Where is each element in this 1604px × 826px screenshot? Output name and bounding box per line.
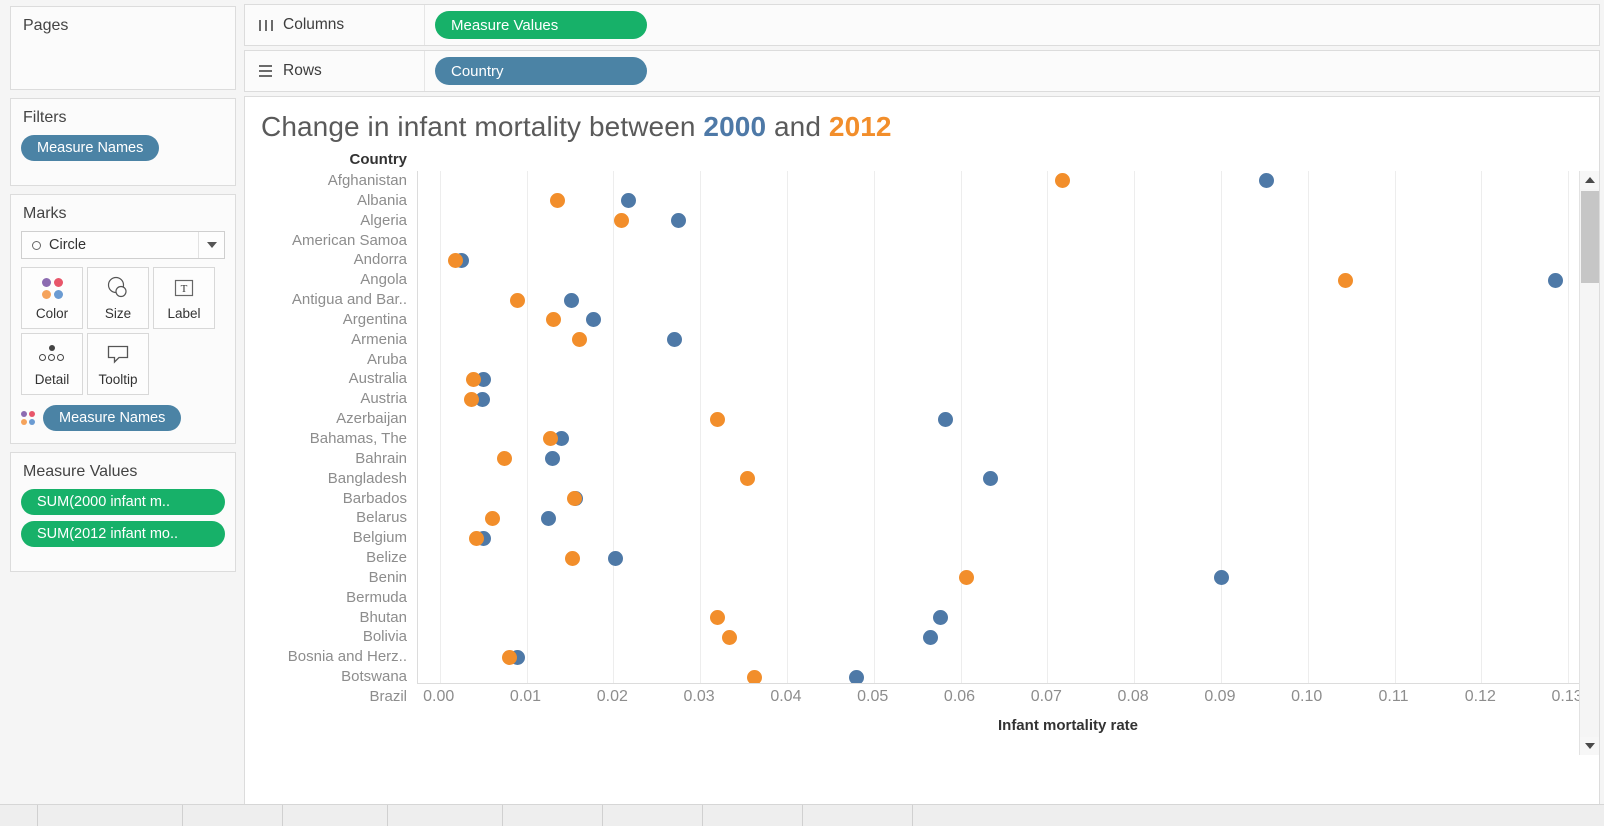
row-label[interactable]: Antigua and Bar.. xyxy=(245,290,417,310)
scroll-up-arrow-icon[interactable] xyxy=(1580,171,1600,189)
marks-color-button[interactable]: Color xyxy=(21,267,83,329)
title-year-2000: 2000 xyxy=(703,111,766,142)
filters-card[interactable]: Filters Measure Names xyxy=(10,98,236,186)
color-dots-icon xyxy=(42,275,63,301)
detail-dots-icon xyxy=(38,341,66,367)
columns-shelf-label: Columns xyxy=(283,16,344,34)
scatter-mark[interactable] xyxy=(502,650,517,665)
scatter-mark[interactable] xyxy=(933,610,948,625)
scatter-mark[interactable] xyxy=(1214,570,1229,585)
row-label[interactable]: Algeria xyxy=(245,211,417,231)
scatter-mark[interactable] xyxy=(710,610,725,625)
row-label[interactable]: Bahrain xyxy=(245,449,417,469)
scatter-mark[interactable] xyxy=(849,670,864,684)
measure-values-card-title: Measure Values xyxy=(23,463,225,481)
filter-pill-measure-names[interactable]: Measure Names xyxy=(21,135,159,161)
scatter-mark[interactable] xyxy=(545,451,560,466)
marks-tooltip-button[interactable]: Tooltip xyxy=(87,333,149,395)
tooltip-bubble-icon xyxy=(107,341,129,367)
scatter-mark[interactable] xyxy=(671,213,686,228)
scatter-mark[interactable] xyxy=(541,511,556,526)
gridline xyxy=(440,171,441,683)
size-icon xyxy=(105,275,131,301)
marks-button-row-2: Detail Tooltip xyxy=(21,333,225,395)
scatter-mark[interactable] xyxy=(938,412,953,427)
marks-detail-label: Detail xyxy=(35,372,70,387)
scatter-mark[interactable] xyxy=(448,253,463,268)
scatter-mark[interactable] xyxy=(546,312,561,327)
scatter-mark[interactable] xyxy=(608,551,623,566)
mark-type-value: Circle xyxy=(49,237,86,253)
worksheet-panel: Columns Measure Values Rows Country Chan… xyxy=(244,0,1604,826)
row-label[interactable]: Bermuda xyxy=(245,588,417,608)
gridline xyxy=(700,171,701,683)
rows-icon xyxy=(259,65,273,77)
marks-pill-measure-names[interactable]: Measure Names xyxy=(43,405,181,431)
tableau-worksheet: Pages Filters Measure Names Marks Circle xyxy=(0,0,1604,826)
row-label[interactable]: Austria xyxy=(245,389,417,409)
row-label[interactable]: Belize xyxy=(245,548,417,568)
row-header-title: Country xyxy=(245,149,417,171)
row-label[interactable]: American Samoa xyxy=(245,231,417,251)
x-tick-label: 0.07 xyxy=(1031,688,1062,706)
scatter-mark[interactable] xyxy=(710,412,725,427)
bottom-status-strip xyxy=(0,804,1604,826)
row-label[interactable]: Angola xyxy=(245,270,417,290)
chevron-down-icon[interactable] xyxy=(198,232,224,258)
x-tick-label: 0.03 xyxy=(684,688,715,706)
rows-shelf[interactable]: Rows Country xyxy=(244,50,1600,92)
rows-shelf-label: Rows xyxy=(283,62,322,80)
columns-icon xyxy=(259,19,273,31)
marks-encoding-row: Measure Names xyxy=(21,405,225,431)
scatter-pane[interactable] xyxy=(417,171,1600,684)
row-label[interactable]: Azerbaijan xyxy=(245,409,417,429)
x-tick-label: 0.12 xyxy=(1465,688,1496,706)
scatter-mark[interactable] xyxy=(1548,273,1563,288)
scatter-mark[interactable] xyxy=(567,491,582,506)
vertical-scrollbar-thumb[interactable] xyxy=(1581,191,1599,283)
measure-values-card: Measure Values SUM(2000 infant m.. SUM(2… xyxy=(10,452,236,572)
title-middle: and xyxy=(766,111,829,142)
pages-card[interactable]: Pages xyxy=(10,6,236,90)
marks-label-button[interactable]: T Label xyxy=(153,267,215,329)
row-label[interactable]: Bosnia and Herz.. xyxy=(245,647,417,667)
row-header-column: Country AfghanistanAlbaniaAlgeriaAmerica… xyxy=(245,149,417,707)
gridline xyxy=(613,171,614,683)
gridline xyxy=(527,171,528,683)
row-label[interactable]: Argentina xyxy=(245,310,417,330)
filters-card-title: Filters xyxy=(23,109,225,127)
row-label[interactable]: Bolivia xyxy=(245,627,417,647)
row-label[interactable]: Belgium xyxy=(245,528,417,548)
gridline xyxy=(787,171,788,683)
columns-pill-measure-values[interactable]: Measure Values xyxy=(435,11,647,39)
gridline xyxy=(1481,171,1482,683)
color-dots-icon xyxy=(21,411,35,425)
row-label[interactable]: Brazil xyxy=(245,687,417,707)
gridline xyxy=(1134,171,1135,683)
scatter-mark[interactable] xyxy=(983,471,998,486)
scatter-mark[interactable] xyxy=(614,213,629,228)
left-shelf-panel: Pages Filters Measure Names Marks Circle xyxy=(0,0,244,826)
page-title: Change in infant mortality between 2000 … xyxy=(245,97,1599,143)
x-tick-label: 0.05 xyxy=(857,688,888,706)
scatter-mark[interactable] xyxy=(586,312,601,327)
plot-area: Country AfghanistanAlbaniaAlgeriaAmerica… xyxy=(245,149,1599,825)
scatter-mark[interactable] xyxy=(510,293,525,308)
row-label[interactable]: Afghanistan xyxy=(245,171,417,191)
marks-size-button[interactable]: Size xyxy=(87,267,149,329)
scatter-mark[interactable] xyxy=(466,372,481,387)
scatter-mark[interactable] xyxy=(740,471,755,486)
marks-color-label: Color xyxy=(36,306,68,321)
gridline xyxy=(1047,171,1048,683)
mark-type-dropdown[interactable]: Circle xyxy=(21,231,225,259)
marks-label-label: Label xyxy=(167,306,200,321)
gridline xyxy=(874,171,875,683)
scatter-mark[interactable] xyxy=(1338,273,1353,288)
row-label[interactable]: Bahamas, The xyxy=(245,429,417,449)
marks-button-row-1: Color Size T Label xyxy=(21,267,225,329)
scatter-mark[interactable] xyxy=(923,630,938,645)
row-label[interactable]: Benin xyxy=(245,568,417,588)
pages-card-title: Pages xyxy=(23,17,225,35)
circle-icon xyxy=(32,241,41,250)
marks-card: Marks Circle Color xyxy=(10,194,236,444)
marks-tooltip-label: Tooltip xyxy=(98,372,137,387)
x-axis-title: Infant mortality rate xyxy=(417,717,1600,734)
columns-shelf[interactable]: Columns Measure Values xyxy=(244,4,1600,46)
row-label[interactable]: Aruba xyxy=(245,350,417,370)
marks-detail-button[interactable]: Detail xyxy=(21,333,83,395)
scatter-mark[interactable] xyxy=(550,193,565,208)
x-tick-label: 0.11 xyxy=(1379,688,1409,706)
scroll-down-arrow-icon[interactable] xyxy=(1580,737,1600,755)
scatter-mark[interactable] xyxy=(564,293,579,308)
gridline xyxy=(1395,171,1396,683)
row-label[interactable]: Barbados xyxy=(245,489,417,509)
row-label[interactable]: Bangladesh xyxy=(245,469,417,489)
x-tick-label: 0.08 xyxy=(1118,688,1149,706)
x-tick-label: 0.13 xyxy=(1552,688,1583,706)
row-label[interactable]: Botswana xyxy=(245,667,417,687)
x-tick-label: 0.10 xyxy=(1291,688,1322,706)
title-prefix: Change in infant mortality between xyxy=(261,111,703,142)
row-label[interactable]: Bhutan xyxy=(245,608,417,628)
scatter-mark[interactable] xyxy=(497,451,512,466)
measure-pill-2000[interactable]: SUM(2000 infant m.. xyxy=(21,489,225,515)
x-tick-label: 0.02 xyxy=(597,688,628,706)
scatter-mark[interactable] xyxy=(485,511,500,526)
scatter-mark[interactable] xyxy=(1055,173,1070,188)
measure-pill-2012[interactable]: SUM(2012 infant mo.. xyxy=(21,521,225,547)
x-tick-label: 0.00 xyxy=(423,688,454,706)
scatter-mark[interactable] xyxy=(1259,173,1274,188)
scatter-mark[interactable] xyxy=(572,332,587,347)
x-tick-label: 0.04 xyxy=(770,688,801,706)
visualization-frame: Change in infant mortality between 2000 … xyxy=(244,96,1600,826)
title-year-2012: 2012 xyxy=(829,111,892,142)
gridline xyxy=(1308,171,1309,683)
marks-card-title: Marks xyxy=(23,205,225,223)
row-label[interactable]: Australia xyxy=(245,369,417,389)
gridline xyxy=(961,171,962,683)
x-tick-label: 0.06 xyxy=(944,688,975,706)
gridline xyxy=(1568,171,1569,683)
marks-size-label: Size xyxy=(105,306,131,321)
scatter-mark[interactable] xyxy=(621,193,636,208)
row-label[interactable]: Belarus xyxy=(245,508,417,528)
x-tick-label: 0.01 xyxy=(510,688,541,706)
label-text-icon: T xyxy=(174,275,194,301)
scatter-mark[interactable] xyxy=(667,332,682,347)
scatter-mark[interactable] xyxy=(469,531,484,546)
svg-text:T: T xyxy=(181,283,188,295)
scatter-mark[interactable] xyxy=(959,570,974,585)
vertical-scrollbar[interactable] xyxy=(1579,171,1599,755)
scatter-mark[interactable] xyxy=(464,392,479,407)
rows-pill-country[interactable]: Country xyxy=(435,57,647,85)
row-label[interactable]: Albania xyxy=(245,191,417,211)
row-label[interactable]: Armenia xyxy=(245,330,417,350)
gridline xyxy=(1221,171,1222,683)
scatter-mark[interactable] xyxy=(565,551,580,566)
x-tick-label: 0.09 xyxy=(1204,688,1235,706)
scatter-mark[interactable] xyxy=(722,630,737,645)
x-axis[interactable]: 0.000.010.020.030.040.050.060.070.080.09… xyxy=(417,684,1600,714)
row-label[interactable]: Andorra xyxy=(245,250,417,270)
scatter-mark[interactable] xyxy=(747,670,762,684)
